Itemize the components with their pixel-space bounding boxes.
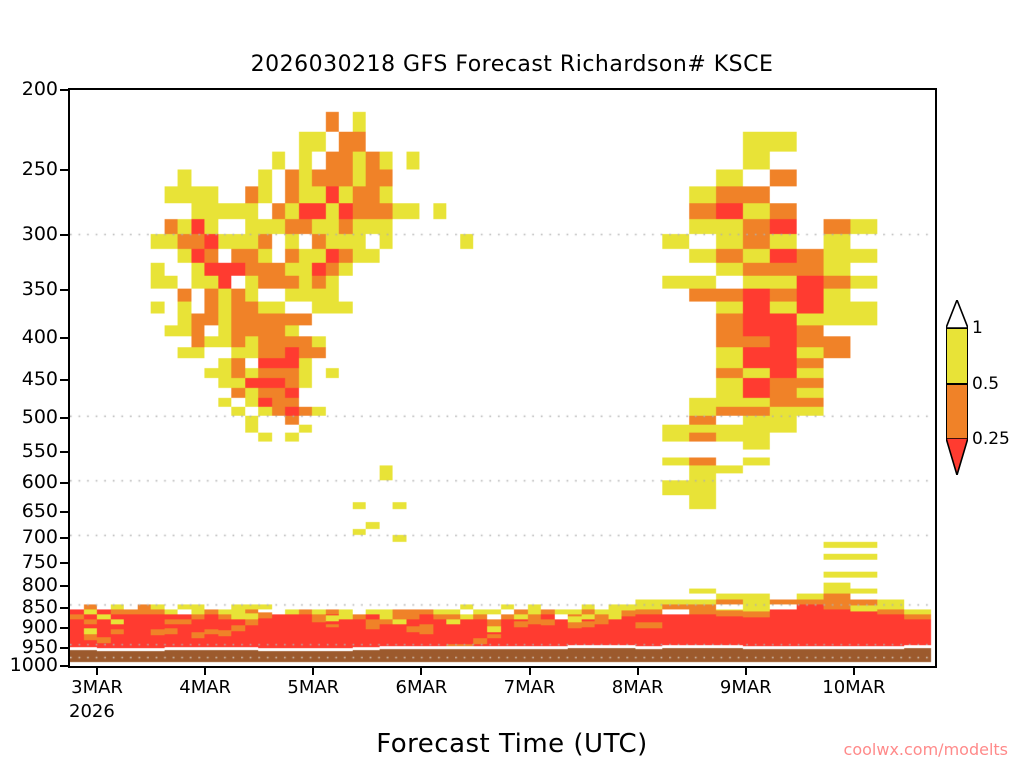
colorbar-arrow-outline-icon: [946, 300, 968, 328]
y-tick-label-850: 850: [0, 598, 58, 617]
y-tick-label-900: 900: [0, 618, 58, 637]
y-tick-label-600: 600: [0, 473, 58, 492]
y-tick-mark: [60, 417, 68, 419]
x-tick-mark: [745, 668, 747, 675]
colorbar-tick-0.25: 0.25: [972, 431, 1010, 448]
y-tick-mark: [60, 627, 68, 629]
y-tick-label-200: 200: [0, 80, 58, 99]
y-tick-label-250: 250: [0, 160, 58, 179]
y-tick-label-350: 350: [0, 280, 58, 299]
x-tick-mark: [312, 668, 314, 675]
x-tick-mark: [204, 668, 206, 675]
colorbar: 10.50.25: [941, 300, 1024, 475]
y-tick-label-700: 700: [0, 528, 58, 547]
colorbar-arrow-below-min-icon: [946, 438, 968, 475]
x-tick-label-10MAR: 10MAR: [799, 678, 909, 698]
x-tick-mark: [853, 668, 855, 675]
x-tick-label-8MAR: 8MAR: [583, 678, 693, 698]
y-tick-mark: [60, 607, 68, 609]
plot-area: [68, 88, 937, 668]
y-tick-mark: [60, 537, 68, 539]
colorbar-tick-0.5: 0.5: [972, 376, 999, 393]
y-tick-label-300: 300: [0, 225, 58, 244]
x-tick-mark: [637, 668, 639, 675]
y-tick-mark: [60, 234, 68, 236]
y-tick-label-750: 750: [0, 553, 58, 572]
y-tick-mark: [60, 89, 68, 91]
y-tick-mark: [60, 585, 68, 587]
y-tick-mark: [60, 647, 68, 649]
y-tick-label-450: 450: [0, 370, 58, 389]
y-tick-mark: [60, 379, 68, 381]
page-title: 2026030218 GFS Forecast Richardson# KSCE: [0, 52, 1024, 77]
y-tick-mark: [60, 665, 68, 667]
y-tick-label-650: 650: [0, 502, 58, 521]
x-tick-label-4MAR: 4MAR: [150, 678, 260, 698]
y-tick-mark: [60, 169, 68, 171]
y-tick-label-500: 500: [0, 408, 58, 427]
colorbar-segments: [946, 328, 968, 439]
y-tick-mark: [60, 337, 68, 339]
y-tick-mark: [60, 511, 68, 513]
chart-page: 2026030218 GFS Forecast Richardson# KSCE…: [0, 0, 1024, 768]
colorbar-segment-0.5-to-1: [946, 328, 968, 384]
x-tick-label-6MAR: 6MAR: [366, 678, 476, 698]
x-tick-label-5MAR: 5MAR: [258, 678, 368, 698]
y-tick-label-1000: 1000: [0, 656, 58, 675]
colorbar-segment-0.25-to-0.5: [946, 384, 968, 440]
x-tick-label-7MAR: 7MAR: [475, 678, 585, 698]
y-tick-mark: [60, 289, 68, 291]
colorbar-tick-1: 1: [972, 320, 983, 337]
y-tick-label-800: 800: [0, 576, 58, 595]
watermark-link[interactable]: coolwx.com/modelts: [844, 740, 1008, 759]
x-tick-label-3MAR: 3MAR: [42, 678, 152, 698]
x-tick-label-9MAR: 9MAR: [691, 678, 801, 698]
x-axis-year-label: 2026: [69, 701, 115, 722]
richardson-heatmap: [70, 90, 935, 666]
y-tick-label-550: 550: [0, 442, 58, 461]
x-tick-mark: [96, 668, 98, 675]
y-tick-mark: [60, 482, 68, 484]
x-tick-mark: [420, 668, 422, 675]
y-tick-mark: [60, 451, 68, 453]
y-tick-mark: [60, 562, 68, 564]
x-tick-mark: [529, 668, 531, 675]
y-tick-label-400: 400: [0, 328, 58, 347]
